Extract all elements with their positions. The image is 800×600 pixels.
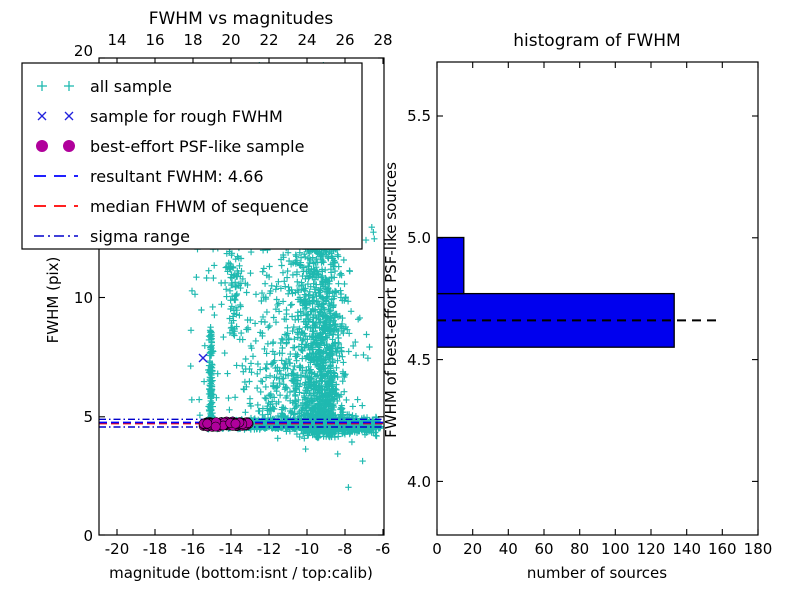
top-tick-label: 16 — [145, 31, 164, 49]
y-tick-label: 4.5 — [407, 351, 431, 369]
top-tick-label: 20 — [221, 31, 240, 49]
top-tick-label: 24 — [297, 31, 316, 49]
legend-label: sigma range — [90, 227, 190, 246]
bottom-tick-label: -10 — [295, 540, 320, 558]
y-tick-label: 0 — [83, 527, 93, 545]
x-tick-label: 20 — [463, 540, 482, 558]
legend-frame — [22, 63, 362, 249]
legend-box: all sample sample for rough FWHM best-ef… — [22, 63, 362, 249]
top-tick-label: 22 — [259, 31, 278, 49]
left-panel-xlabel: magnitude (bottom:isnt / top:calib) — [109, 564, 373, 582]
legend-label: sample for rough FWHM — [90, 107, 283, 126]
y-tick-label: 5.0 — [407, 229, 431, 247]
x-tick-label: 0 — [432, 540, 442, 558]
bottom-tick-label: -12 — [257, 540, 282, 558]
right-panel-ylabel: FWHM of best-effort PSF-like sources — [382, 162, 400, 438]
y-tick-label: 4.0 — [407, 473, 431, 491]
x-tick-label: 80 — [570, 540, 589, 558]
y-tick-label: 5 — [83, 408, 93, 426]
figure-canvas: FWHM vs magnitudes 14 16 18 20 22 24 26 … — [0, 0, 800, 600]
left-panel-title: FWHM vs magnitudes — [149, 9, 334, 29]
bottom-tick-label: -14 — [219, 540, 244, 558]
y-tick-label: 5.5 — [407, 107, 431, 125]
bottom-tick-label: -8 — [338, 540, 353, 558]
x-tick-label: 160 — [708, 540, 737, 558]
histogram-bar — [437, 238, 464, 294]
legend-label: resultant FWHM: 4.66 — [90, 167, 264, 186]
x-tick-label: 40 — [499, 540, 518, 558]
right-panel-xlabel: number of sources — [527, 564, 667, 582]
legend-label: median FHWM of sequence — [90, 197, 309, 216]
x-tick-label: 120 — [637, 540, 666, 558]
x-tick-label: 180 — [744, 540, 773, 558]
y-tick-label: 10 — [74, 289, 93, 307]
left-panel-ylabel: FWHM (pix) — [44, 257, 62, 344]
right-panel-title: histogram of FWHM — [513, 31, 680, 51]
bottom-tick-label: -16 — [181, 540, 206, 558]
top-tick-label: 26 — [335, 31, 354, 49]
top-tick-label: 18 — [183, 31, 202, 49]
bottom-tick-label: -20 — [105, 540, 130, 558]
matplotlib-figure: FWHM vs magnitudes 14 16 18 20 22 24 26 … — [0, 0, 800, 600]
legend-label: all sample — [90, 77, 172, 96]
x-tick-label: 140 — [672, 540, 701, 558]
legend-label: best-effort PSF-like sample — [90, 137, 304, 156]
scatter-points-psf-sample — [199, 417, 253, 432]
x-tick-label: 100 — [601, 540, 630, 558]
y-tick-label: 20 — [74, 42, 93, 60]
bottom-tick-label: -18 — [143, 540, 168, 558]
bottom-tick-label: -6 — [376, 540, 391, 558]
x-tick-label: 60 — [534, 540, 553, 558]
top-tick-label: 14 — [107, 31, 126, 49]
top-tick-label: 28 — [373, 31, 392, 49]
